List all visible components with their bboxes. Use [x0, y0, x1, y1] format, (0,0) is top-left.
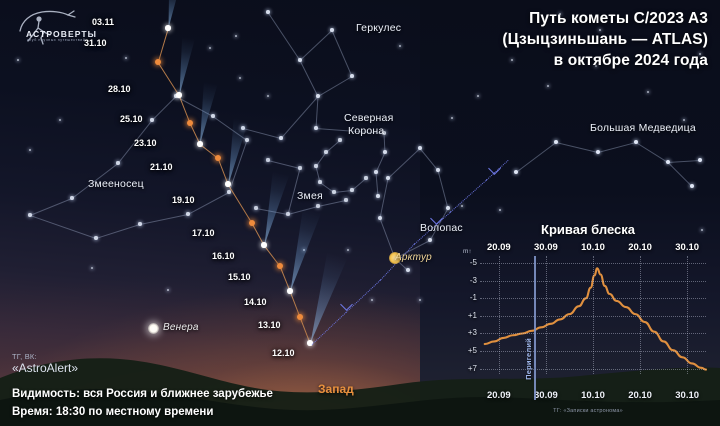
y-axis-tick-label: +3: [462, 328, 477, 337]
comet-position-marker: [176, 92, 181, 97]
comet-date-label: 25.10: [120, 114, 143, 124]
comet-date-label: 13.10: [258, 320, 281, 330]
comet-position-marker: [165, 25, 170, 30]
gridline-vertical: [687, 256, 688, 374]
comet-date-label: 19.10: [172, 195, 195, 205]
infographic-root: АрктурВенера ГеркулесСевернаяКоронаБольш…: [0, 0, 720, 426]
constellation-label: Геркулес: [356, 22, 401, 34]
perihelion-label: Перигелий: [524, 338, 533, 380]
gridline-vertical: [640, 256, 641, 374]
x-axis-tick-label-top: 10.10: [577, 242, 609, 253]
x-axis-tick-label-top: 20.10: [624, 242, 656, 253]
logo-subtitle: клуб научных путешествий: [27, 38, 85, 42]
x-axis-tick-label-bottom: 20.10: [624, 390, 656, 401]
light-curve-path: [485, 268, 706, 369]
constellation-label: Змееносец: [88, 178, 144, 190]
comet-date-label: 14.10: [244, 297, 267, 307]
comet-position-marker: [287, 288, 292, 293]
light-curve-title: Кривая блеска: [462, 222, 714, 237]
comet-date-label: 16.10: [212, 251, 235, 261]
direction-west-label: Запад: [318, 382, 354, 396]
x-axis-tick-label-top: 20.09: [483, 242, 515, 253]
constellation-label: Большая Медведица: [590, 122, 696, 134]
y-axis-tick-label: -5: [462, 258, 477, 267]
comet-date-label: 23.10: [134, 138, 157, 148]
comet-date-label: 17.10: [192, 228, 215, 238]
gridline-vertical: [546, 256, 547, 374]
social-label: ТГ, ВК:: [12, 352, 37, 361]
light-curve-plot-area: [480, 256, 706, 374]
named-star-label: Венера: [163, 322, 199, 334]
comet-date-label: 15.10: [228, 272, 251, 282]
magnitude-unit-label: m↑: [463, 248, 472, 255]
constellation-label: Корона: [348, 125, 384, 137]
y-axis-tick-label: -3: [462, 276, 477, 285]
y-axis-tick-label: +1: [462, 311, 477, 320]
perihelion-marker-line: [534, 256, 536, 400]
comet-date-label: 12.10: [272, 348, 295, 358]
title-line-3: в октябре 2024 года: [502, 50, 708, 71]
x-axis-tick-label-bottom: 20.09: [483, 390, 515, 401]
comet-position-marker: [197, 141, 202, 146]
brand-name: «AstroAlert»: [12, 361, 78, 375]
gridline-vertical: [499, 256, 500, 374]
title-line-1: Путь кометы C/2023 A3: [502, 8, 708, 29]
light-curve-panel: Кривая блеска m↑ -5-3-1+1+3+5+720.0920.0…: [462, 222, 714, 418]
x-axis-tick-label-bottom: 10.10: [577, 390, 609, 401]
x-axis-tick-label-bottom: 30.10: [671, 390, 703, 401]
comet-position-marker: [261, 242, 266, 247]
named-star-label: Арктур: [395, 252, 432, 264]
y-axis-tick-label: +7: [462, 364, 477, 373]
comet-position-marker: [225, 181, 230, 186]
page-title: Путь кометы C/2023 A3 (Цзыцзиньшань — AT…: [502, 8, 708, 71]
time-line: Время: 18:30 по местному времени: [12, 406, 213, 418]
constellation-label: Волопас: [420, 222, 463, 234]
gridline-vertical: [593, 256, 594, 374]
y-axis-tick-label: +5: [462, 346, 477, 355]
x-axis-tick-label-top: 30.09: [530, 242, 562, 253]
comet-date-label: 28.10: [108, 84, 131, 94]
x-axis-tick-label-top: 30.10: [671, 242, 703, 253]
title-line-2: (Цзыцзиньшань — ATLAS): [502, 29, 708, 50]
visibility-line: Видимость: вся Россия и ближнее зарубежь…: [12, 388, 273, 400]
chart-credit: ТГ: «Записки астронома»: [462, 408, 714, 414]
constellation-label: Северная: [344, 112, 394, 124]
constellation-label: Змея: [297, 190, 323, 202]
y-axis-tick-label: -1: [462, 293, 477, 302]
comet-date-label: 21.10: [150, 162, 173, 172]
planet-venus: [148, 323, 159, 334]
